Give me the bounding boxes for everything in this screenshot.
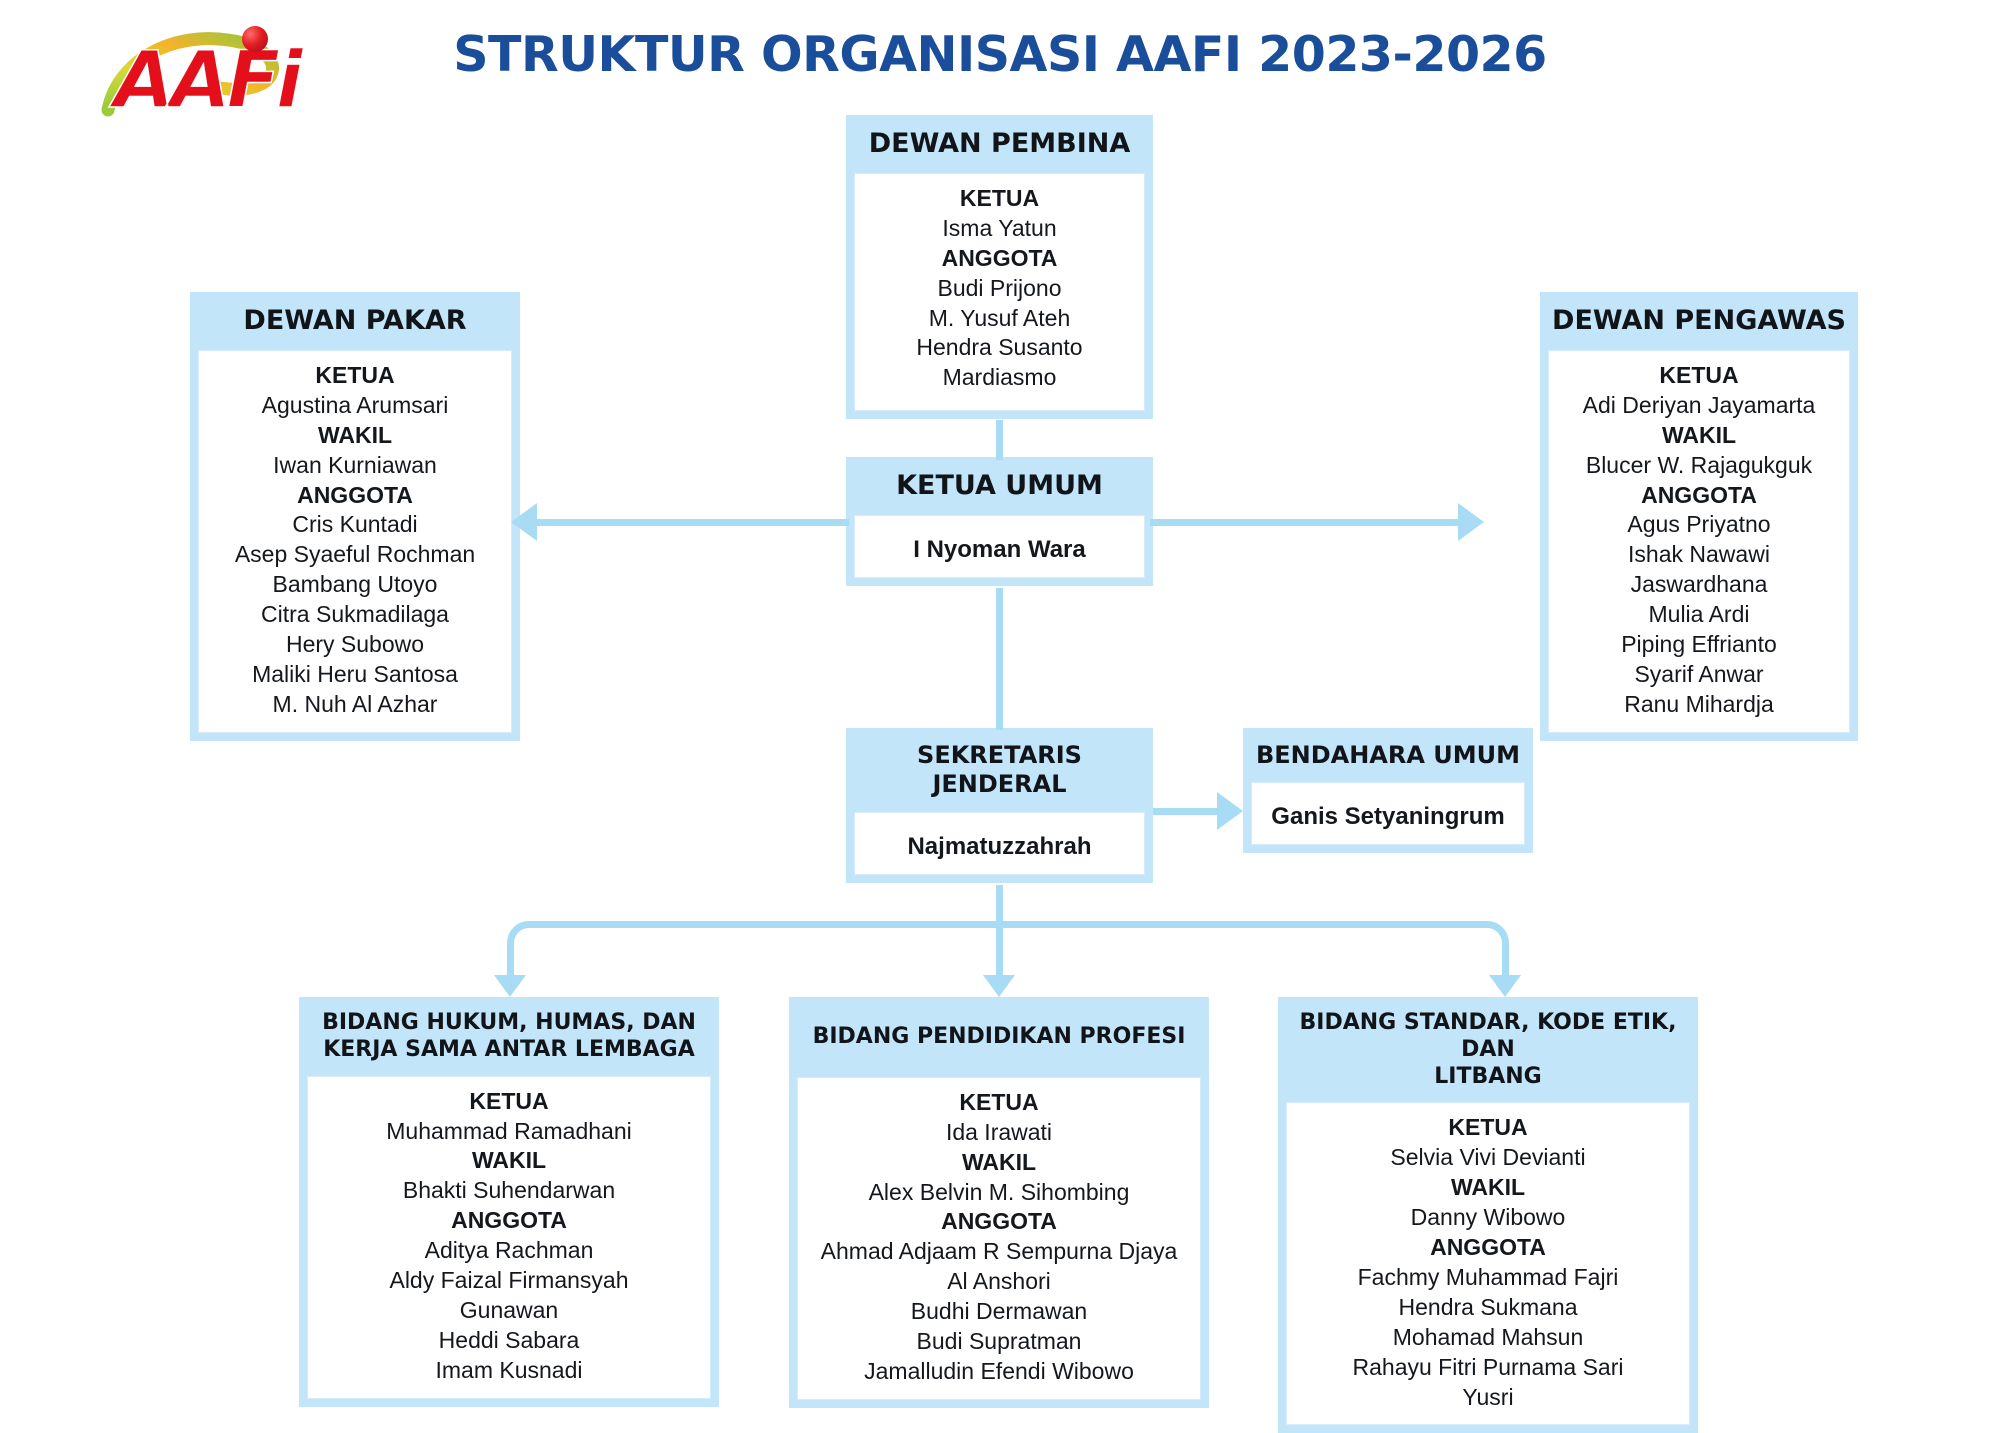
role-label-anggota: ANGGOTA (1557, 481, 1841, 511)
role-label-ketua: KETUA (806, 1088, 1192, 1118)
person-name: Al Anshori (806, 1267, 1192, 1297)
node-dewan-pengawas: DEWAN PENGAWAS KETUA Adi Deriyan Jayamar… (1540, 292, 1858, 741)
connector-drop-bidang-pendidikan (996, 921, 1003, 977)
list-anggota-dewan-pembina: Budi PrijonoM. Yusuf AtehHendra SusantoM… (863, 274, 1136, 394)
list-wakil-bidang-pendidikan: Alex Belvin M. Sihombing (806, 1178, 1192, 1208)
person-name: Danny Wibowo (1295, 1203, 1681, 1233)
person-name: Ishak Nawawi (1557, 540, 1841, 570)
person-name: Agus Priyatno (1557, 510, 1841, 540)
node-header-dewan-pembina: DEWAN PEMBINA (846, 115, 1153, 173)
person-name: Alex Belvin M. Sihombing (806, 1178, 1192, 1208)
node-sekretaris-jenderal: SEKRETARIS JENDERAL Najmatuzzahrah (846, 728, 1153, 883)
node-header-bidang-pendidikan: BIDANG PENDIDIKAN PROFESI (789, 997, 1209, 1077)
person-name: Blucer W. Rajagukguk (1557, 451, 1841, 481)
node-header-ketua-umum: KETUA UMUM (846, 457, 1153, 515)
list-ketua-dewan-pembina: Isma Yatun (863, 214, 1136, 244)
arrow-down-bidang-hukum (494, 975, 526, 997)
person-name: Aldy Faizal Firmansyah (316, 1266, 702, 1296)
node-dewan-pakar: DEWAN PAKAR KETUA Agustina Arumsari WAKI… (190, 292, 520, 741)
person-name: Bambang Utoyo (207, 570, 503, 600)
connector-sekjen-down (996, 885, 1003, 925)
node-body-bidang-pendidikan: KETUA Ida Irawati WAKIL Alex Belvin M. S… (797, 1077, 1201, 1400)
arrow-down-bidang-pendidikan (983, 975, 1015, 997)
person-name: Hery Subowo (207, 630, 503, 660)
person-name: Ranu Mihardja (1557, 690, 1841, 720)
connector-bus-horizontal (527, 921, 1489, 928)
person-name: Piping Effrianto (1557, 630, 1841, 660)
person-name: Yusri (1295, 1383, 1681, 1413)
person-name: Ida Irawati (806, 1118, 1192, 1148)
list-ketua-bidang-standar: Selvia Vivi Devianti (1295, 1143, 1681, 1173)
node-header-line2: KERJA SAMA ANTAR LEMBAGA (311, 1037, 707, 1064)
arrow-right-bendahara (1217, 792, 1243, 830)
connector-pembina-to-ketua-umum (996, 420, 1003, 460)
person-name: Muhammad Ramadhani (316, 1117, 702, 1147)
role-label-wakil: WAKIL (1295, 1173, 1681, 1203)
person-ketua-umum: I Nyoman Wara (863, 534, 1136, 565)
person-name: Budi Supratman (806, 1327, 1192, 1357)
list-ketua-dewan-pengawas: Adi Deriyan Jayamarta (1557, 391, 1841, 421)
node-bendahara-umum: BENDAHARA UMUM Ganis Setyaningrum (1243, 728, 1533, 853)
node-bidang-standar: BIDANG STANDAR, KODE ETIK, DAN LITBANG K… (1278, 997, 1698, 1433)
node-body-dewan-pakar: KETUA Agustina Arumsari WAKIL Iwan Kurni… (198, 350, 512, 733)
list-ketua-bidang-hukum: Muhammad Ramadhani (316, 1117, 702, 1147)
node-body-bidang-hukum: KETUA Muhammad Ramadhani WAKIL Bhakti Su… (307, 1076, 711, 1399)
role-label-ketua: KETUA (207, 361, 503, 391)
person-name: Cris Kuntadi (207, 510, 503, 540)
role-label-ketua: KETUA (1557, 361, 1841, 391)
node-bidang-pendidikan: BIDANG PENDIDIKAN PROFESI KETUA Ida Iraw… (789, 997, 1209, 1408)
person-name: Imam Kusnadi (316, 1356, 702, 1386)
connector-drop-bidang-standar (1502, 955, 1509, 977)
person-name: Selvia Vivi Devianti (1295, 1143, 1681, 1173)
person-name: M. Yusuf Ateh (863, 304, 1136, 334)
person-name: Jamalludin Efendi Wibowo (806, 1357, 1192, 1387)
node-body-sekretaris-jenderal: Najmatuzzahrah (854, 812, 1145, 875)
node-dewan-pembina: DEWAN PEMBINA KETUA Isma Yatun ANGGOTA B… (846, 115, 1153, 419)
list-anggota-dewan-pakar: Cris KuntadiAsep Syaeful RochmanBambang … (207, 510, 503, 719)
node-header-dewan-pakar: DEWAN PAKAR (190, 292, 520, 350)
list-ketua-dewan-pakar: Agustina Arumsari (207, 391, 503, 421)
person-name: Jaswardhana (1557, 570, 1841, 600)
person-name: Maliki Heru Santosa (207, 660, 503, 690)
arrow-down-bidang-standar (1489, 975, 1521, 997)
node-body-dewan-pembina: KETUA Isma Yatun ANGGOTA Budi PrijonoM. … (854, 173, 1145, 411)
person-name: Agustina Arumsari (207, 391, 503, 421)
list-anggota-dewan-pengawas: Agus PriyatnoIshak NawawiJaswardhanaMuli… (1557, 510, 1841, 719)
list-wakil-dewan-pakar: Iwan Kurniawan (207, 451, 503, 481)
person-sekretaris-jenderal: Najmatuzzahrah (863, 831, 1136, 862)
role-label-wakil: WAKIL (316, 1146, 702, 1176)
node-header-line1: BIDANG PENDIDIKAN PROFESI (801, 1024, 1197, 1051)
list-anggota-bidang-standar: Fachmy Muhammad FajriHendra SukmanaMoham… (1295, 1263, 1681, 1412)
person-name: Citra Sukmadilaga (207, 600, 503, 630)
node-body-bidang-standar: KETUA Selvia Vivi Devianti WAKIL Danny W… (1286, 1102, 1690, 1425)
role-label-ketua: KETUA (316, 1087, 702, 1117)
role-label-anggota: ANGGOTA (207, 481, 503, 511)
person-name: Isma Yatun (863, 214, 1136, 244)
list-anggota-bidang-hukum: Aditya RachmanAldy Faizal FirmansyahGuna… (316, 1236, 702, 1385)
person-name: Rahayu Fitri Purnama Sari (1295, 1353, 1681, 1383)
person-name: Asep Syaeful Rochman (207, 540, 503, 570)
node-body-ketua-umum: I Nyoman Wara (854, 515, 1145, 578)
person-name: Hendra Sukmana (1295, 1293, 1681, 1323)
list-ketua-bidang-pendidikan: Ida Irawati (806, 1118, 1192, 1148)
person-name: Hendra Susanto (863, 333, 1136, 363)
person-name: Fachmy Muhammad Fajri (1295, 1263, 1681, 1293)
role-label-wakil: WAKIL (806, 1148, 1192, 1178)
person-name: Mohamad Mahsun (1295, 1323, 1681, 1353)
arrow-left-dewan-pakar (511, 503, 537, 541)
page-title: STRUKTUR ORGANISASI AAFI 2023-2026 (0, 26, 2000, 83)
node-ketua-umum: KETUA UMUM I Nyoman Wara (846, 457, 1153, 586)
node-header-bidang-standar: BIDANG STANDAR, KODE ETIK, DAN LITBANG (1278, 997, 1698, 1102)
node-header-line1: BIDANG STANDAR, KODE ETIK, DAN (1290, 1010, 1686, 1064)
connector-sekjen-to-bendahara (1153, 808, 1219, 815)
node-header-line1: BIDANG HUKUM, HUMAS, DAN (311, 1010, 707, 1037)
node-body-dewan-pengawas: KETUA Adi Deriyan Jayamarta WAKIL Blucer… (1548, 350, 1850, 733)
person-name: Mardiasmo (863, 363, 1136, 393)
list-anggota-bidang-pendidikan: Ahmad Adjaam R Sempurna DjayaAl AnshoriB… (806, 1237, 1192, 1386)
list-wakil-bidang-standar: Danny Wibowo (1295, 1203, 1681, 1233)
node-body-bendahara-umum: Ganis Setyaningrum (1251, 782, 1525, 845)
role-label-anggota: ANGGOTA (1295, 1233, 1681, 1263)
role-label-wakil: WAKIL (207, 421, 503, 451)
role-label-anggota: ANGGOTA (863, 244, 1136, 274)
person-name: Syarif Anwar (1557, 660, 1841, 690)
node-header-bendahara-umum: BENDAHARA UMUM (1243, 728, 1533, 782)
node-header-line2: LITBANG (1290, 1064, 1686, 1091)
role-label-ketua: KETUA (863, 184, 1136, 214)
person-bendahara-umum: Ganis Setyaningrum (1260, 801, 1516, 832)
list-wakil-bidang-hukum: Bhakti Suhendarwan (316, 1176, 702, 1206)
role-label-anggota: ANGGOTA (806, 1207, 1192, 1237)
role-label-ketua: KETUA (1295, 1113, 1681, 1143)
person-name: Bhakti Suhendarwan (316, 1176, 702, 1206)
person-name: Budi Prijono (863, 274, 1136, 304)
person-name: Iwan Kurniawan (207, 451, 503, 481)
connector-ketua-umum-to-dewan-pengawas (1150, 519, 1460, 526)
person-name: M. Nuh Al Azhar (207, 690, 503, 720)
person-name: Ahmad Adjaam R Sempurna Djaya (806, 1237, 1192, 1267)
arrow-right-dewan-pengawas (1458, 503, 1484, 541)
role-label-anggota: ANGGOTA (316, 1206, 702, 1236)
person-name: Budhi Dermawan (806, 1297, 1192, 1327)
person-name: Gunawan (316, 1296, 702, 1326)
node-bidang-hukum: BIDANG HUKUM, HUMAS, DAN KERJA SAMA ANTA… (299, 997, 719, 1407)
connector-ketua-umum-to-sekjen (996, 588, 1003, 730)
connector-drop-bidang-hukum (507, 955, 514, 977)
node-header-sekretaris-jenderal: SEKRETARIS JENDERAL (846, 728, 1153, 812)
list-wakil-dewan-pengawas: Blucer W. Rajagukguk (1557, 451, 1841, 481)
node-header-bidang-hukum: BIDANG HUKUM, HUMAS, DAN KERJA SAMA ANTA… (299, 997, 719, 1076)
person-name: Mulia Ardi (1557, 600, 1841, 630)
connector-ketua-umum-to-dewan-pakar (537, 519, 849, 526)
node-header-dewan-pengawas: DEWAN PENGAWAS (1540, 292, 1858, 350)
person-name: Aditya Rachman (316, 1236, 702, 1266)
person-name: Adi Deriyan Jayamarta (1557, 391, 1841, 421)
person-name: Heddi Sabara (316, 1326, 702, 1356)
role-label-wakil: WAKIL (1557, 421, 1841, 451)
